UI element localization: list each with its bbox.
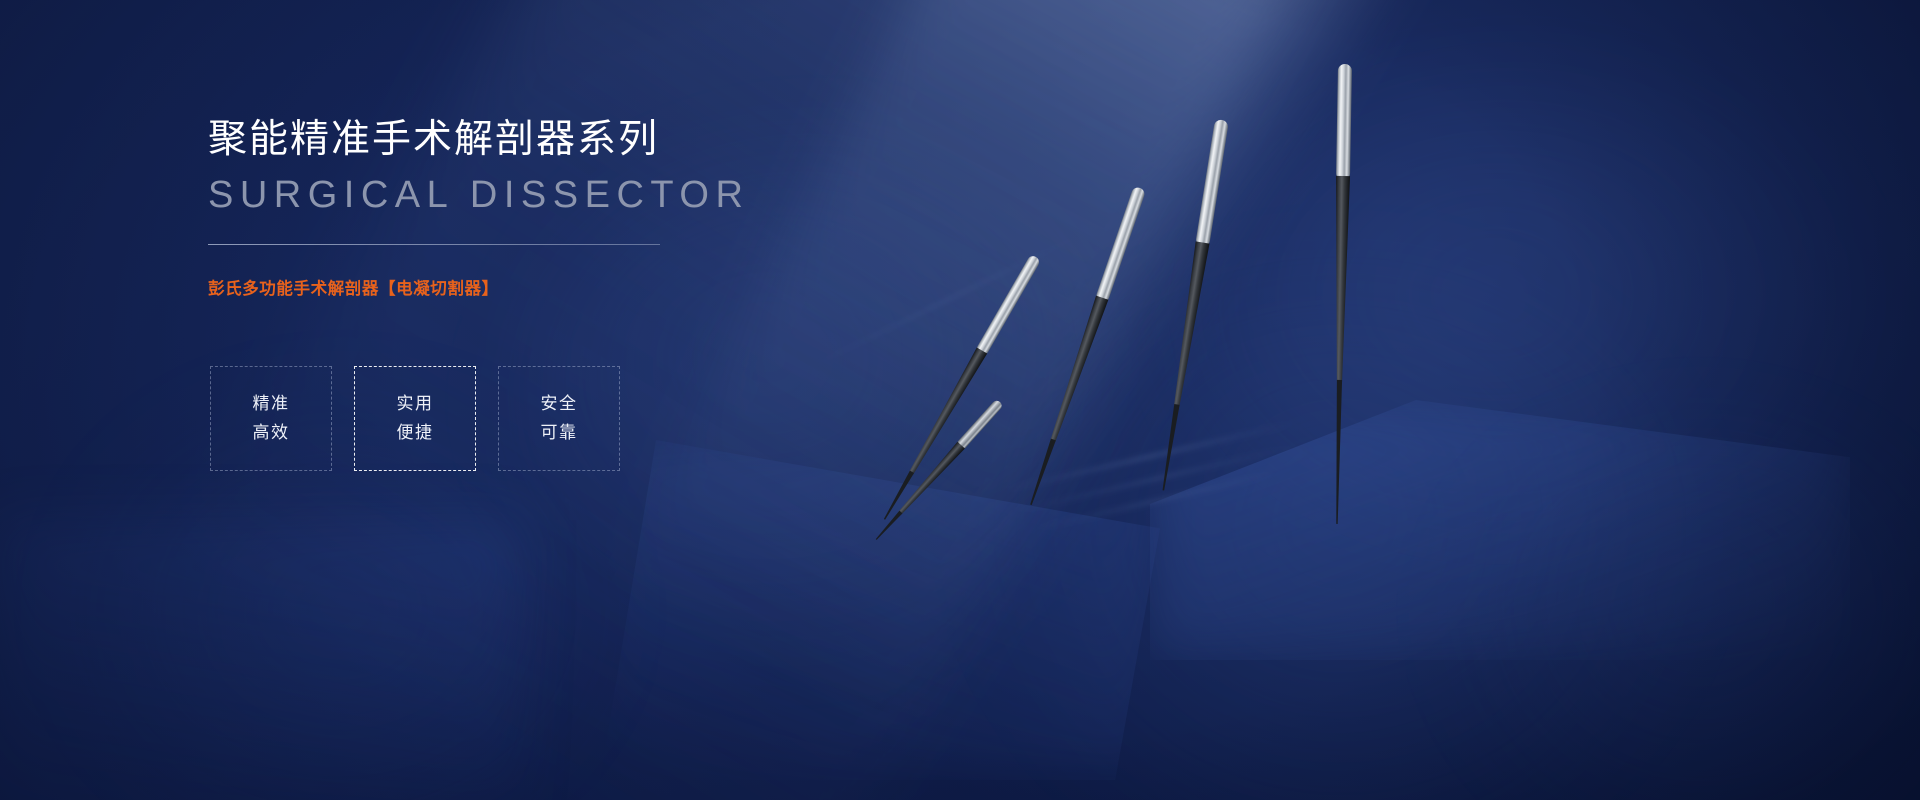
hero-banner: 聚能精准手术解剖器系列 SURGICAL DISSECTOR 彭氏多功能手术解剖…: [0, 0, 1920, 800]
feature-box-safety[interactable]: 安全 可靠: [498, 366, 620, 471]
page-subtitle-en: SURGICAL DISSECTOR: [208, 175, 678, 217]
feature-line-2: 便捷: [397, 419, 434, 447]
hero-text-column: 聚能精准手术解剖器系列 SURGICAL DISSECTOR 彭氏多功能手术解剖…: [208, 118, 678, 299]
product-tagline: 彭氏多功能手术解剖器【电凝切割器】: [208, 275, 678, 299]
feature-box-precision[interactable]: 精准 高效: [210, 366, 332, 471]
feature-box-group: 精准 高效 实用 便捷 安全 可靠: [210, 366, 642, 471]
feature-line-2: 可靠: [541, 419, 578, 447]
feature-line-1: 精准: [253, 390, 290, 418]
feature-line-1: 安全: [541, 390, 578, 418]
background-facet: [0, 520, 520, 800]
page-title: 聚能精准手术解剖器系列: [208, 118, 678, 163]
feature-line-2: 高效: [253, 419, 290, 447]
feature-box-practical[interactable]: 实用 便捷: [354, 366, 476, 471]
divider: [208, 244, 660, 245]
feature-line-1: 实用: [397, 390, 434, 418]
